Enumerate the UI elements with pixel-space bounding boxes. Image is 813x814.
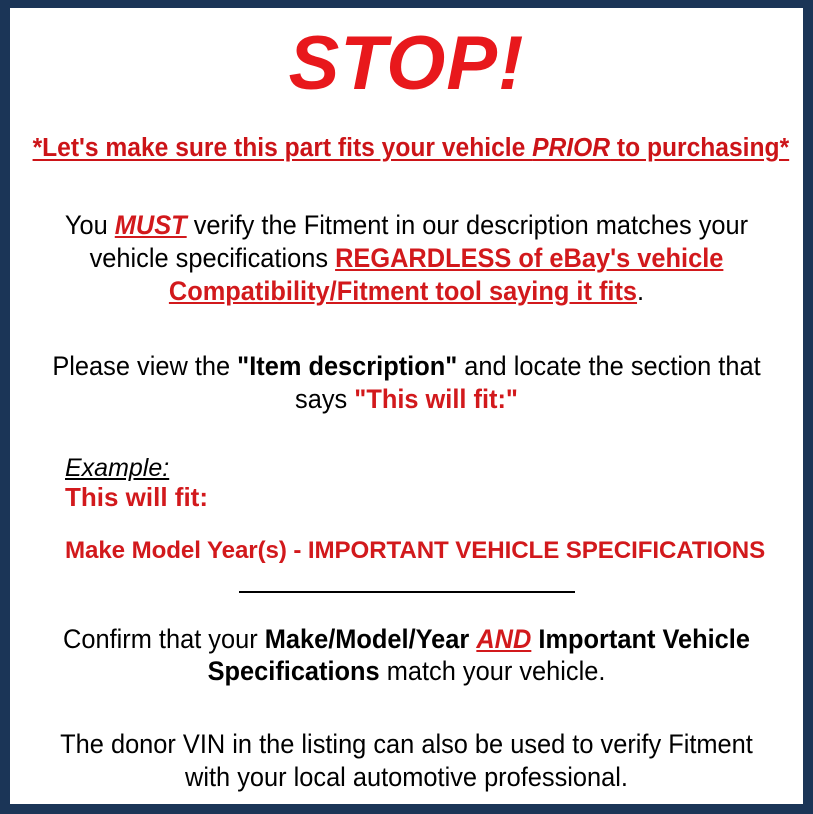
page-title: STOP! [19,26,794,102]
confirm-seg-4: match your vehicle. [380,656,606,686]
example-block: Example: This will fit: Make Model Year(… [19,454,794,565]
subtitle-emphasis-prior: PRIOR [532,134,610,162]
subtitle-text-after: to purchasing* [610,134,789,162]
view-seg-1: Please view the [52,351,237,381]
fitment-notice-frame: STOP! *Let's make sure this part fits yo… [0,0,813,814]
this-will-fit-emphasis: "This will fit:" [354,384,518,414]
must-verify-paragraph: You MUST verify the Fitment in our descr… [42,209,771,308]
example-spec-line: Make Model Year(s) - IMPORTANT VEHICLE S… [65,538,783,565]
item-description-emphasis: "Item description" [237,351,457,381]
divider-wrapper [19,591,794,593]
example-label-row: Example: [65,454,794,482]
donor-vin-paragraph: The donor VIN in the listing can also be… [42,728,771,794]
must-seg-1: You [65,210,115,240]
subtitle-text-before: *Let's make sure this part fits your veh… [33,134,533,162]
make-model-year-emphasis: Make/Model/Year [265,624,470,654]
horizontal-divider [239,591,575,593]
example-label: Example: [65,454,169,482]
must-seg-3: . [637,276,644,306]
subtitle-banner: *Let's make sure this part fits your veh… [33,134,781,163]
confirm-paragraph: Confirm that your Make/Model/Year AND Im… [42,623,771,689]
confirm-seg-1: Confirm that your [63,624,265,654]
confirm-seg-2 [469,624,476,654]
notice-content: STOP! *Let's make sure this part fits yo… [10,8,803,804]
example-fit-heading: This will fit: [65,483,794,512]
must-emphasis: MUST [115,210,187,240]
and-emphasis: AND [476,624,531,654]
confirm-seg-3 [531,624,538,654]
item-description-paragraph: Please view the "Item description" and l… [42,350,771,416]
